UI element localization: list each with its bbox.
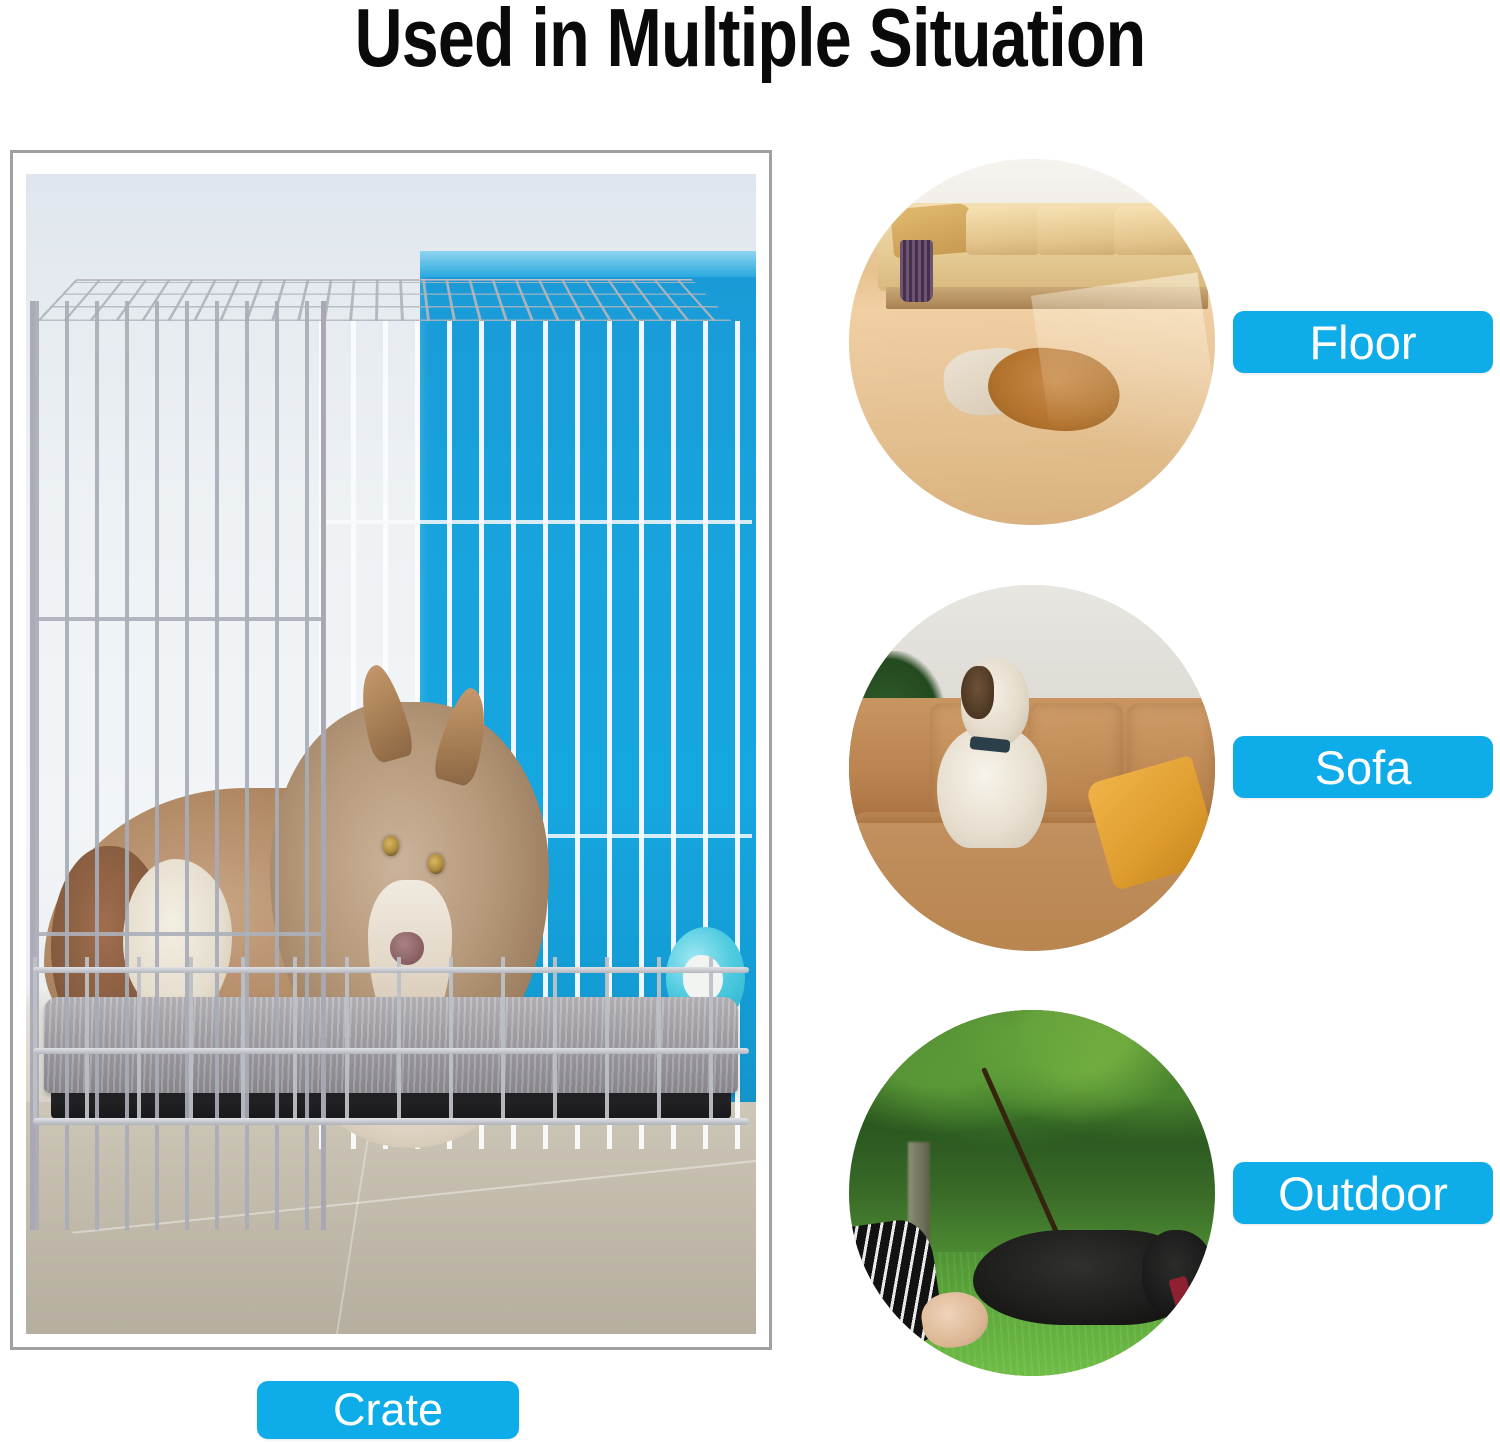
label-sofa: Sofa <box>1233 736 1493 798</box>
label-floor: Floor <box>1233 311 1493 373</box>
sofa-scene <box>849 585 1215 951</box>
page-title: Used in Multiple Situation <box>150 0 1350 81</box>
dog-ear-left <box>350 661 417 765</box>
dog-eye-left <box>383 836 399 856</box>
situation-image-outdoor <box>849 1010 1215 1376</box>
dog-eye-right <box>428 854 444 874</box>
crate-bottom-rails <box>33 957 748 1118</box>
floor-scene-cushion <box>966 206 1040 255</box>
floor-scene-sunlight <box>1031 273 1215 525</box>
crate-base-rail <box>33 1118 748 1125</box>
crate-photo <box>26 174 756 1334</box>
situation-image-sofa <box>849 585 1215 951</box>
outdoor-scene <box>849 1010 1215 1376</box>
sofa-scene-dog <box>937 658 1047 848</box>
floor-scene-cushion <box>1037 206 1118 255</box>
floor-scene-cushion <box>1114 206 1202 255</box>
dog-ear-right <box>431 684 498 788</box>
label-outdoor: Outdoor <box>1233 1162 1493 1224</box>
floor-scene <box>849 159 1215 525</box>
wire-crate <box>30 220 753 1229</box>
crate-photo-frame <box>10 150 772 1350</box>
sofa-scene-dog-mane <box>961 666 994 719</box>
floor-scene-striped-vase <box>900 240 933 302</box>
label-crate: Crate <box>257 1381 519 1439</box>
situation-image-floor <box>849 159 1215 525</box>
infographic-page: Used in Multiple Situation <box>0 0 1500 1442</box>
crate-top-rail <box>74 279 693 281</box>
